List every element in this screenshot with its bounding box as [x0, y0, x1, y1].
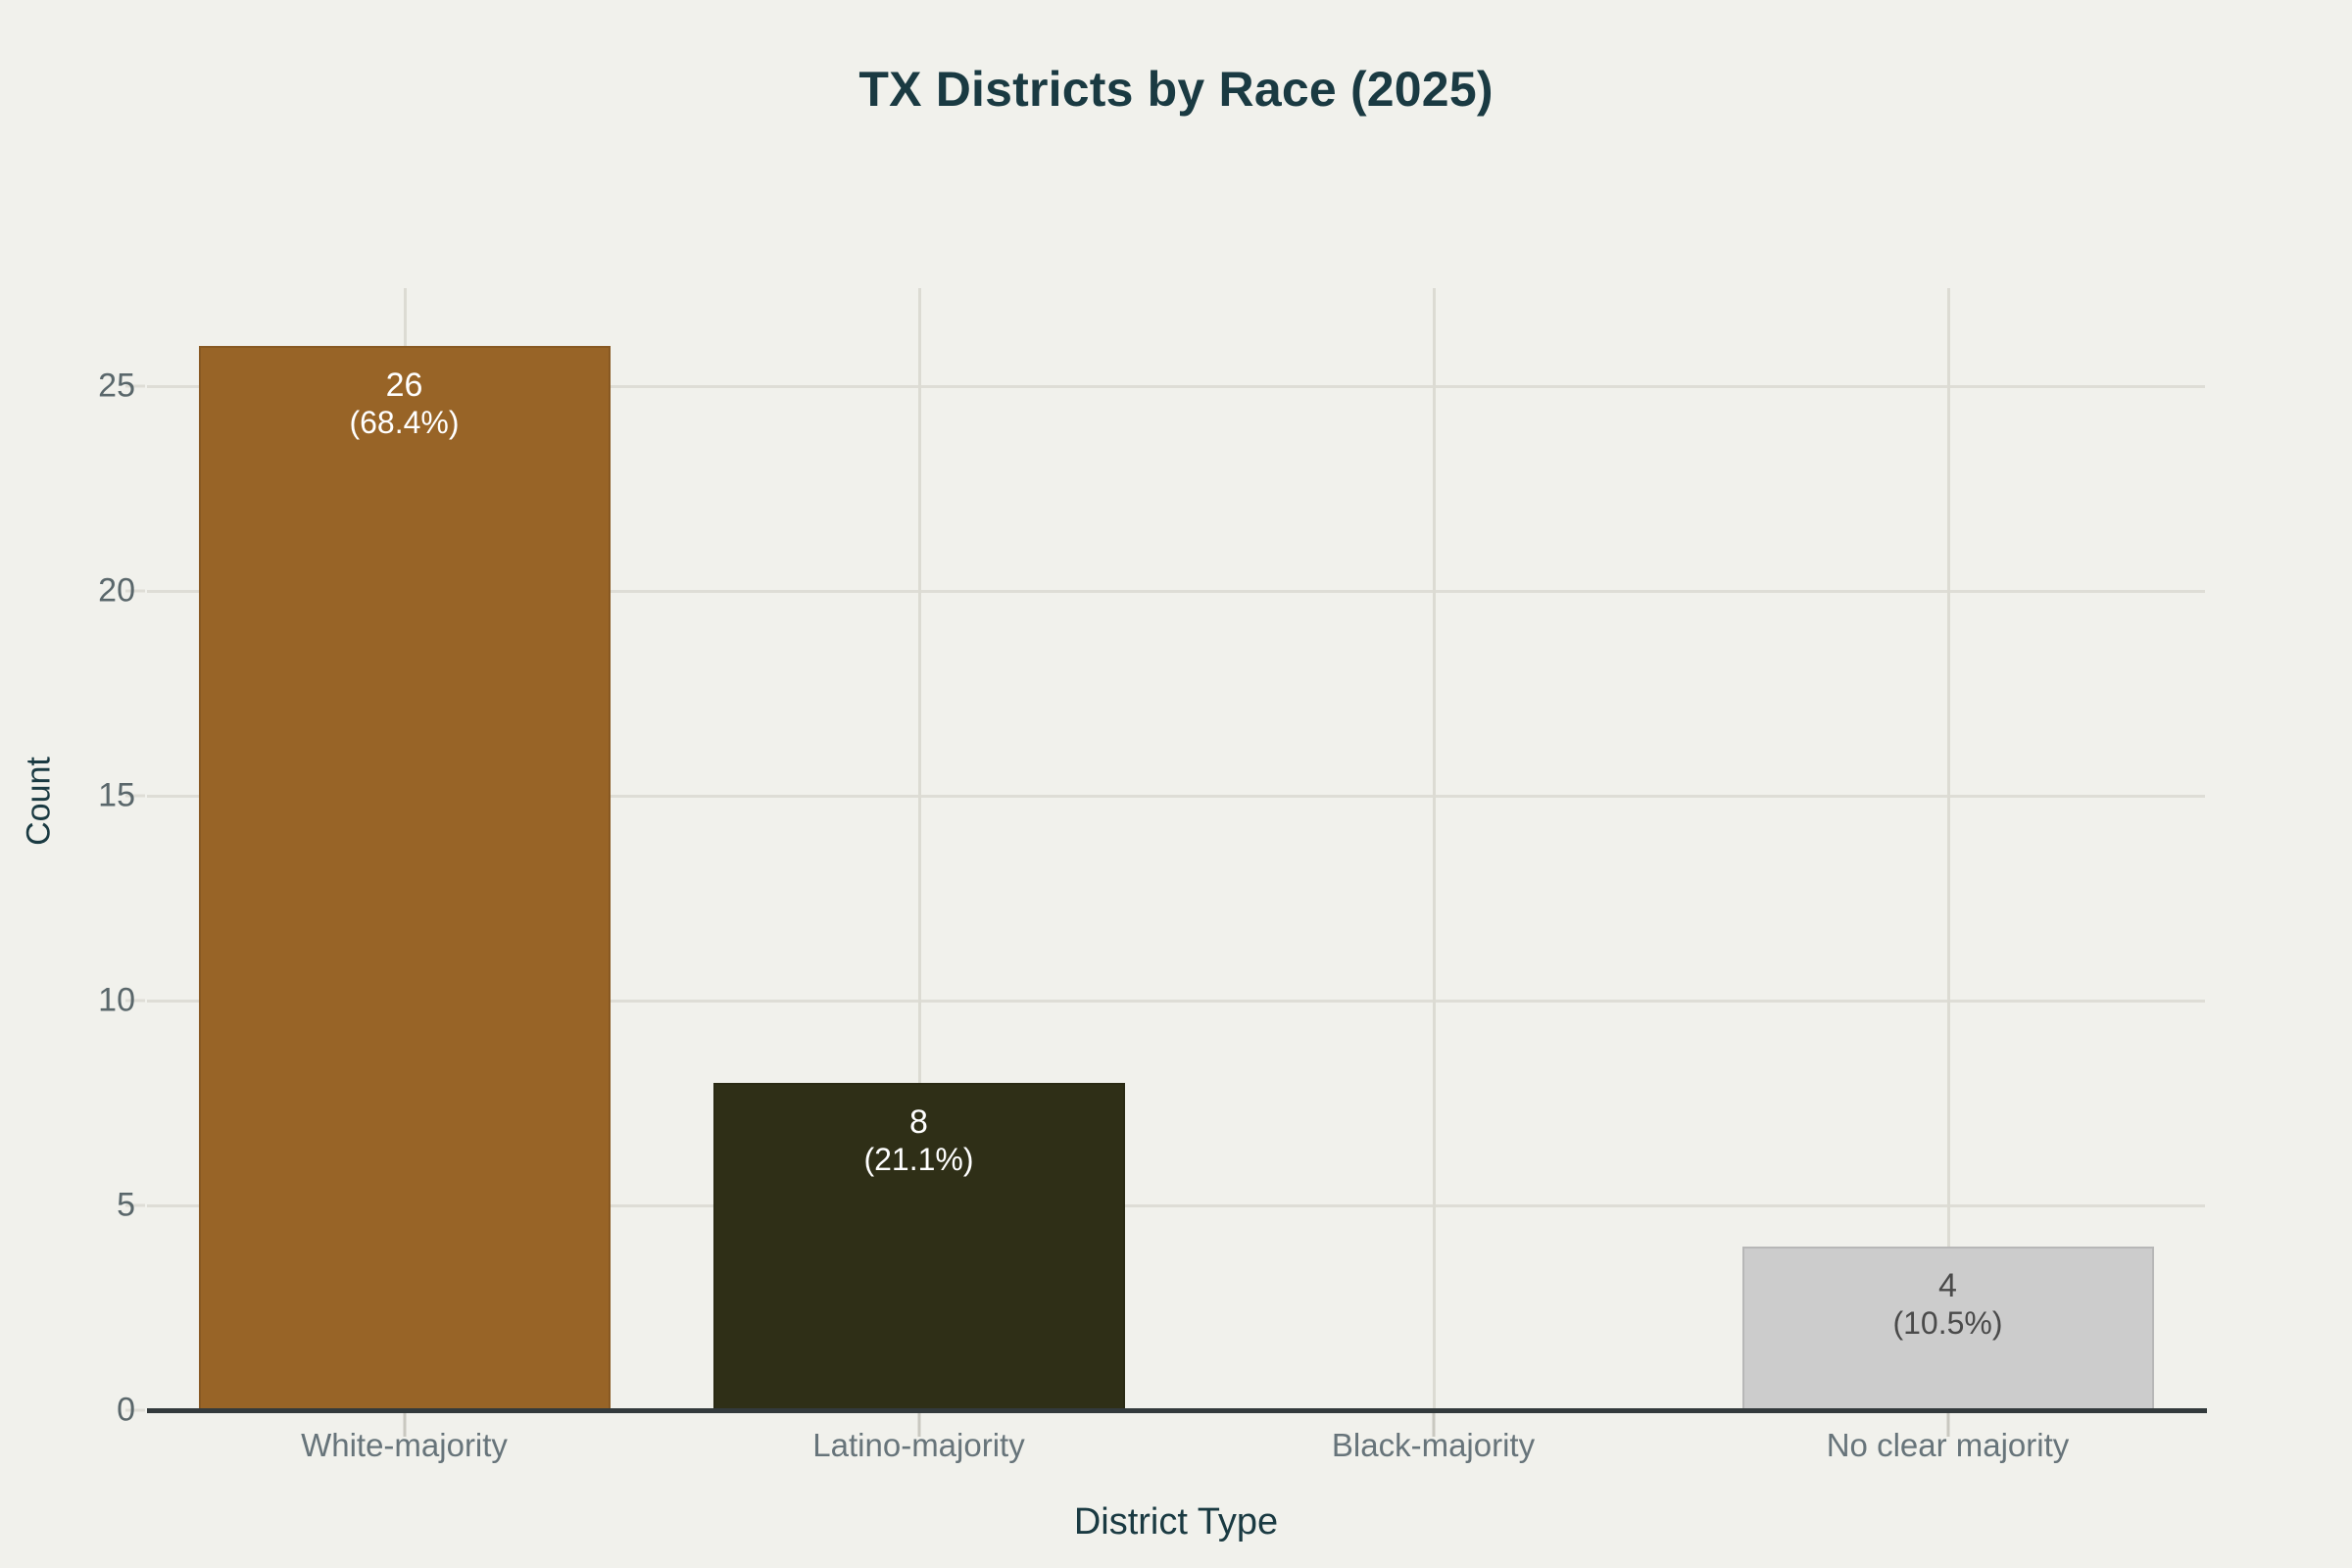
x-tick-label-latino-majority: Latino-majority — [812, 1427, 1024, 1464]
y-tick-label: 25 — [98, 367, 135, 406]
bar-percent-text: (68.4%) — [349, 405, 459, 442]
bar-value-label: 26(68.4%) — [349, 366, 459, 442]
bar-count-text: 8 — [863, 1102, 973, 1142]
x-tick-label-no-clear-majority: No clear majority — [1827, 1427, 2070, 1464]
page-title: TX Districts by Race (2025) — [0, 61, 2352, 118]
x-axis-line — [147, 1408, 2207, 1413]
y-tick-label: 0 — [117, 1392, 135, 1430]
y-tick-label: 10 — [98, 982, 135, 1020]
chart-figure: TX Districts by Race (2025) Count Distri… — [0, 0, 2352, 1568]
y-axis-title: Count — [21, 704, 59, 900]
bar-count-text: 4 — [1892, 1266, 2002, 1305]
x-tick-label-black-majority: Black-majority — [1332, 1427, 1535, 1464]
x-tick-label-white-majority: White-majority — [301, 1427, 508, 1464]
bar-percent-text: (21.1%) — [863, 1142, 973, 1179]
plot-area: 26(68.4%)8(21.1%)4(10.5%) — [147, 288, 2205, 1410]
bar-value-label: 4(10.5%) — [1892, 1266, 2002, 1343]
y-tick-label: 15 — [98, 777, 135, 815]
x-gridline — [1433, 288, 1436, 1410]
bar-count-text: 26 — [349, 366, 459, 405]
x-axis-title: District Type — [0, 1501, 2352, 1543]
bar-percent-text: (10.5%) — [1892, 1305, 2002, 1343]
bar-white-majority[interactable] — [199, 346, 611, 1410]
x-gridline — [1947, 288, 1950, 1410]
y-tick-label: 20 — [98, 572, 135, 611]
bar-value-label: 8(21.1%) — [863, 1102, 973, 1179]
y-tick-label: 5 — [117, 1187, 135, 1225]
